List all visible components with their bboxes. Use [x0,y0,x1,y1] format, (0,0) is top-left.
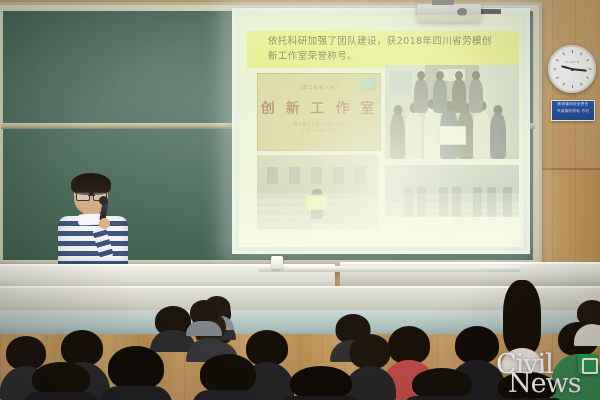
bench-rail [258,266,520,272]
plaque-subtitle: （职工技能人才） [258,85,380,91]
ceiling-projector [417,4,481,22]
presenter-hand [99,218,110,229]
projector-lens [457,8,467,16]
audience-member [574,300,600,346]
projector-mount [432,0,454,5]
presenter [56,176,130,270]
projection-screen: 依托科研加强了团队建设，获2018年四川省劳模创 新工作室荣誉称号。 （职工技能… [232,8,530,254]
projected-slide: 依托科研加强了团队建设，获2018年四川省劳模创 新工作室荣誉称号。 （职工技能… [239,15,523,247]
award-placard [438,126,466,145]
audience-member [186,300,222,336]
building-panel [390,71,411,95]
watermark-logo-icon [578,354,598,374]
plaque-footer-line-1: 四川省总工会 二〇一八年 [293,121,345,126]
group-photo [385,65,519,159]
lecture-hall-photo: 依托科研加强了团队建设，获2018年四川省劳模创 新工作室荣誉称号。 （职工技能… [0,0,600,400]
slide-text-line-2: 新工作室荣誉称号。 [252,49,514,64]
audience-member [282,366,360,400]
plaque-photo: （职工技能人才） 创 新 工 作 室 四川省总工会 二〇一八年 二〇一八年十二月 [257,73,381,151]
watermark-line-2: News [508,371,581,397]
clock-minute-hand [572,68,587,71]
wall-sign-line-1: 教师课间安全责任 [552,101,594,108]
audience-member [192,354,264,400]
projection-washout [239,193,523,247]
plaque-footer-line-2: 二〇一八年十二月 [301,128,338,133]
slide-text-line-1: 依托科研加强了团队建设，获2018年四川省劳模创 [252,34,514,49]
wall-notice-sign: 教师课间安全责任 节减慎防停电 节约 [551,100,595,121]
microphone-head-icon [99,196,108,205]
plaque-title: 创 新 工 作 室 [258,98,380,118]
audience-member [24,362,98,400]
cup-on-desk [271,256,283,269]
watermark: Civil News [496,352,600,398]
wall-sign-line-2: 节减慎防停电 节约 [552,108,594,115]
slide-text-banner: 依托科研加强了团队建设，获2018年四川省劳模创 新工作室荣誉称号。 [247,31,519,68]
plaque-footer: 四川省总工会 二〇一八年 二〇一八年十二月 [258,120,380,134]
audience-member [100,346,172,400]
wall-clock: QUARTZ [548,45,596,93]
clock-center-pin [571,68,574,71]
audience-member [404,368,480,400]
